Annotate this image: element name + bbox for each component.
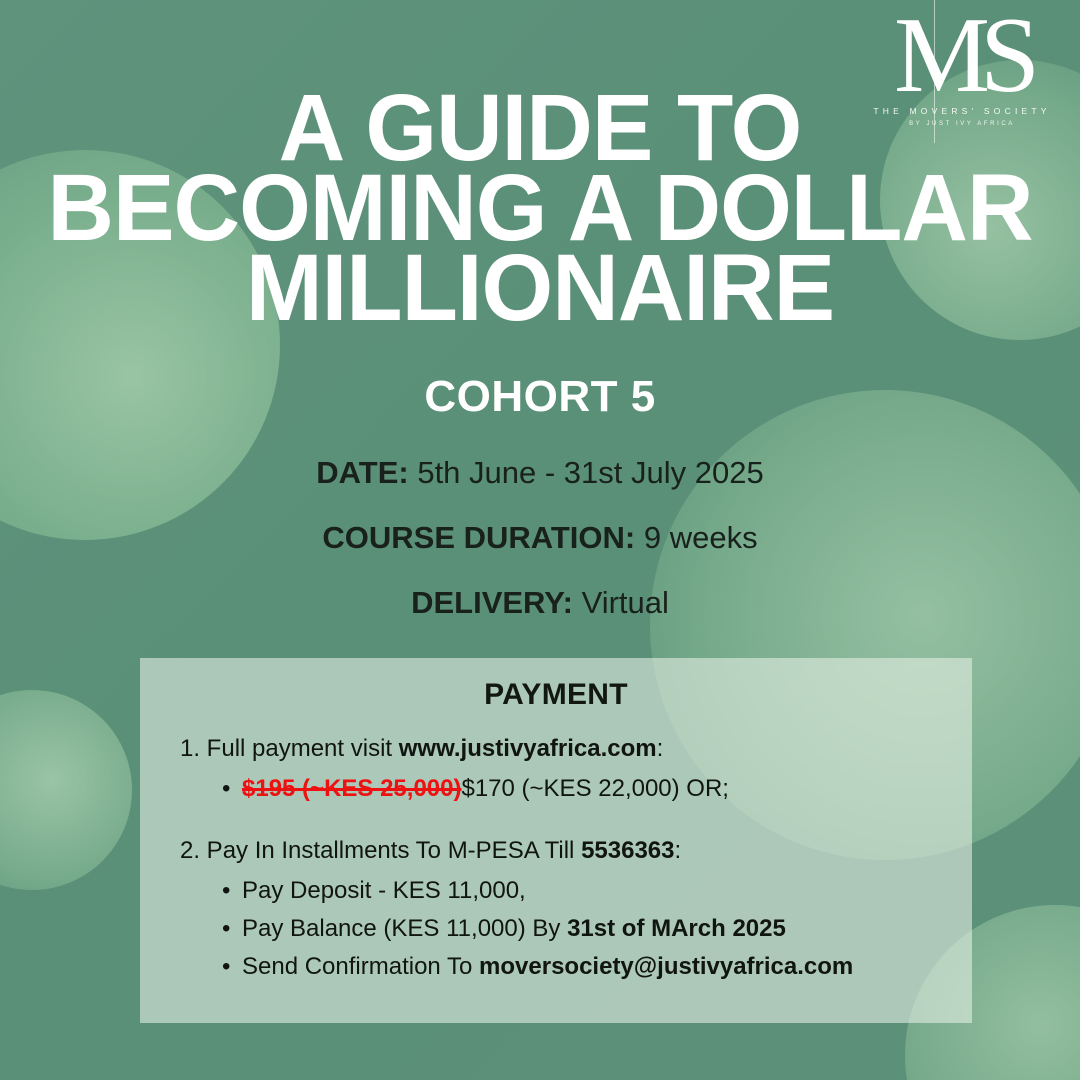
course-details: DATE: 5th June - 31st July 2025 COURSE D… [0,455,1080,650]
detail-label-delivery: DELIVERY: [411,585,573,620]
payment-panel-title: PAYMENT [140,678,972,712]
payment-option-1-lead-plain: 1. Full payment visit [180,735,399,762]
payment-option-2-lead-plain: 2. Pay In Installments To M-PESA Till [180,837,581,864]
detail-label-duration: COURSE DURATION: [322,520,635,555]
poster-canvas: MS THE MOVERS' SOCIETY BY JUST IVY AFRIC… [0,0,1080,1080]
background-blob-left-small [0,690,132,890]
payment-option-1-bullets: $195 (~KES 25,000)$170 (~KES 22,000) OR; [180,770,972,808]
list-item: Send Confirmation To moversociety@justiv… [180,948,972,986]
payment-option-1: 1. Full payment visit www.justivyafrica.… [140,734,972,986]
list-item: Pay Deposit - KES 11,000, [180,872,972,910]
old-price-struck: $195 (~KES 25,000) [242,775,461,802]
mpesa-till-number: 5536363 [581,837,674,864]
detail-row-delivery: DELIVERY: Virtual [0,585,1080,620]
detail-value-date: 5th June - 31st July 2025 [417,455,763,490]
payment-option-2-lead-tail: : [675,837,682,864]
detail-value-duration: 9 weeks [644,520,758,555]
detail-label-date: DATE: [316,455,408,490]
detail-value-delivery: Virtual [582,585,669,620]
confirmation-email[interactable]: moversociety@justivyafrica.com [479,953,853,980]
balance-due-date: 31st of MArch 2025 [567,915,786,942]
deposit-text: Pay Deposit - KES 11,000, [242,877,526,904]
payment-option-1-lead: 1. Full payment visit www.justivyafrica.… [180,734,972,764]
detail-row-date: DATE: 5th June - 31st July 2025 [0,455,1080,490]
balance-text: Pay Balance (KES 11,000) By [242,915,567,942]
confirmation-text: Send Confirmation To [242,953,479,980]
payment-options-spacer [180,808,972,836]
payment-panel: PAYMENT 1. Full payment visit www.justiv… [140,658,972,1023]
payment-option-2-bullets: Pay Deposit - KES 11,000, Pay Balance (K… [180,872,972,986]
page-title: A GUIDE TO BECOMING A DOLLAR MILLIONAIRE [16,88,1064,328]
detail-row-duration: COURSE DURATION: 9 weeks [0,520,1080,555]
payment-option-2-lead: 2. Pay In Installments To M-PESA Till 55… [180,836,972,866]
new-price: $170 (~KES 22,000) OR; [461,775,729,802]
list-item: $195 (~KES 25,000)$170 (~KES 22,000) OR; [180,770,972,808]
cohort-subtitle: COHORT 5 [0,372,1080,422]
list-item: Pay Balance (KES 11,000) By 31st of MArc… [180,910,972,948]
payment-option-1-lead-tail: : [657,735,664,762]
payment-option-1-website-link[interactable]: www.justivyafrica.com [399,735,657,762]
